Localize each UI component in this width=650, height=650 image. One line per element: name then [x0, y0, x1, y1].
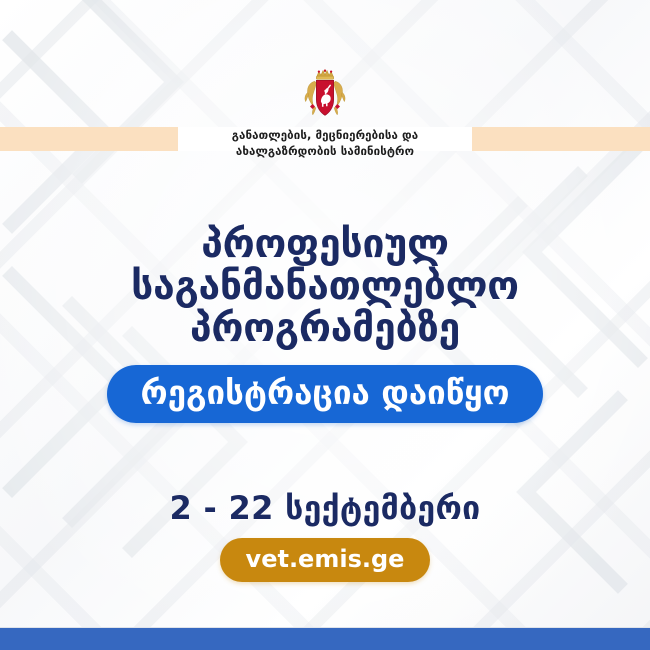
- website-url-badge[interactable]: vet.emis.ge: [220, 538, 431, 582]
- promo-poster: განათლების, მეცნიერებისა და ახალგაზრდობი…: [0, 0, 650, 650]
- page-title: პროფესიულ საგანმანათლებლო პროგრამებზე: [0, 224, 650, 350]
- registration-badge-wrapper: რეგისტრაცია დაიწყო: [0, 365, 650, 423]
- website-link-wrapper: vet.emis.ge: [0, 538, 650, 582]
- ministry-name: განათლების, მეცნიერებისა და ახალგაზრდობი…: [232, 128, 418, 159]
- registration-open-badge: რეგისტრაცია დაიწყო: [107, 365, 544, 423]
- date-range: 2 - 22 სექტემბერი: [0, 489, 650, 527]
- page-title-line-1: პროფესიულ: [0, 224, 650, 266]
- page-title-line-3: პროგრამებზე: [0, 308, 650, 350]
- ministry-name-line-1: განათლების, მეცნიერებისა და: [232, 128, 418, 144]
- georgia-coat-of-arms-icon: [299, 66, 351, 122]
- ministry-header: განათლების, მეცნიერებისა და ახალგაზრდობი…: [0, 66, 650, 159]
- footer-accent-bar: [0, 627, 650, 650]
- page-title-line-2: საგანმანათლებლო: [0, 266, 650, 308]
- ministry-name-line-2: ახალგაზრდობის სამინისტრო: [232, 144, 418, 160]
